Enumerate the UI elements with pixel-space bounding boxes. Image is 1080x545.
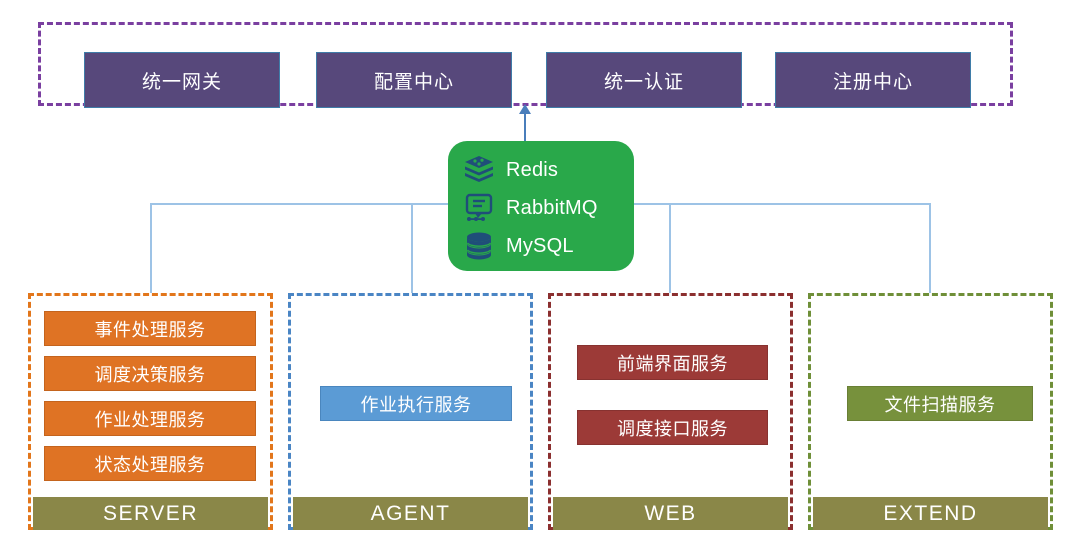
column-band-label: SERVER: [103, 502, 198, 526]
middleware-label-rabbitmq: RabbitMQ: [506, 197, 598, 220]
service-label: 状态处理服务: [95, 451, 206, 477]
service-box-event-processing[interactable]: 事件处理服务: [44, 311, 256, 346]
platform-box-config[interactable]: 配置中心: [316, 52, 512, 108]
arrow-up-shaft: [524, 108, 526, 142]
platform-box-label: 配置中心: [374, 67, 454, 94]
column-band-server: SERVER: [33, 497, 268, 530]
platform-box-label: 统一认证: [604, 67, 684, 94]
connector-to-extend: [929, 203, 931, 293]
connector-to-web: [669, 203, 671, 293]
platform-box-label: 统一网关: [142, 67, 222, 94]
middleware-row-mysql: MySQL: [462, 228, 634, 264]
column-band-agent: AGENT: [293, 497, 528, 530]
column-band-web: WEB: [553, 497, 788, 530]
service-box-job-processing[interactable]: 作业处理服务: [44, 401, 256, 436]
middleware-box[interactable]: Redis: [448, 141, 634, 271]
service-box-file-scan[interactable]: 文件扫描服务: [847, 386, 1033, 421]
platform-box-label: 注册中心: [833, 67, 913, 94]
service-label: 作业处理服务: [95, 406, 206, 432]
service-label: 文件扫描服务: [885, 391, 996, 417]
service-box-frontend-ui[interactable]: 前端界面服务: [577, 345, 768, 380]
connector-to-agent: [411, 203, 413, 293]
architecture-diagram: 统一网关 配置中心 统一认证 注册中心: [0, 0, 1080, 545]
service-label: 事件处理服务: [95, 316, 206, 342]
service-box-schedule-decision[interactable]: 调度决策服务: [44, 356, 256, 391]
column-band-label: EXTEND: [883, 502, 977, 526]
rabbitmq-message-icon: [462, 192, 496, 224]
service-label: 调度决策服务: [95, 361, 206, 387]
service-label: 前端界面服务: [617, 350, 728, 376]
service-box-state-processing[interactable]: 状态处理服务: [44, 446, 256, 481]
middleware-row-rabbitmq: RabbitMQ: [462, 190, 634, 226]
service-label: 作业执行服务: [361, 391, 472, 417]
service-box-schedule-api[interactable]: 调度接口服务: [577, 410, 768, 445]
service-label: 调度接口服务: [617, 415, 728, 441]
service-box-job-execution[interactable]: 作业执行服务: [320, 386, 512, 421]
column-band-label: AGENT: [371, 502, 451, 526]
column-band-label: WEB: [644, 502, 696, 526]
middleware-label-redis: Redis: [506, 159, 558, 182]
platform-box-gateway[interactable]: 统一网关: [84, 52, 280, 108]
middleware-row-redis: Redis: [462, 152, 634, 188]
mysql-database-icon: [462, 230, 496, 262]
redis-layers-icon: [462, 154, 496, 186]
column-band-extend: EXTEND: [813, 497, 1048, 530]
platform-box-auth[interactable]: 统一认证: [546, 52, 742, 108]
middleware-label-mysql: MySQL: [506, 235, 574, 258]
platform-box-registry[interactable]: 注册中心: [775, 52, 971, 108]
connector-to-server: [150, 203, 152, 293]
